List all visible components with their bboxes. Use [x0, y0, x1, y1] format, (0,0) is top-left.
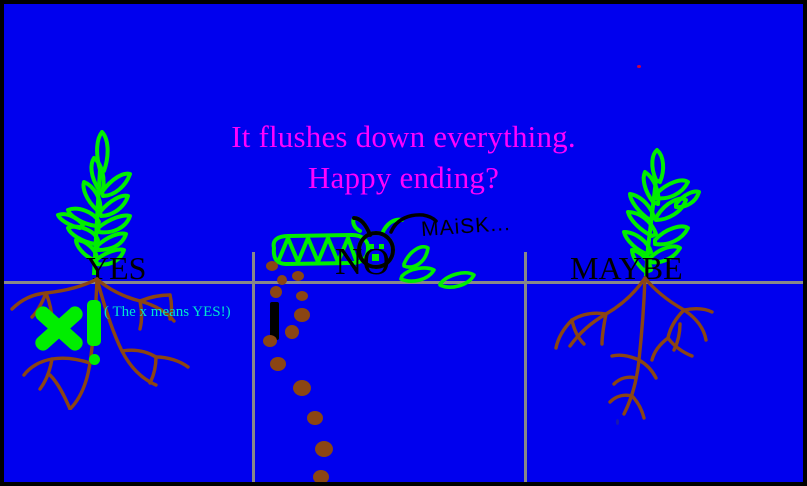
screenshot-canvas: It flushes down everything. Happy ending… — [0, 0, 807, 486]
loose-leaves-icon — [396, 242, 491, 292]
drawing-board: It flushes down everything. Happy ending… — [4, 4, 803, 482]
vertical-divider-right — [524, 252, 527, 482]
green-x-mark-icon — [30, 299, 88, 357]
right-root-system-icon — [544, 276, 784, 421]
faint-speck — [616, 419, 619, 425]
x-means-yes-note: ( The x means YES!) — [104, 304, 231, 321]
title-line-1: It flushes down everything. — [231, 119, 576, 154]
green-exclamation-bar-icon — [87, 300, 101, 346]
dirt-pellet-trail-icon — [256, 254, 366, 482]
green-exclamation-dot-icon — [89, 354, 100, 365]
pink-speck — [637, 65, 641, 68]
label-maisk-handwritten: MAiSK... — [420, 213, 511, 240]
